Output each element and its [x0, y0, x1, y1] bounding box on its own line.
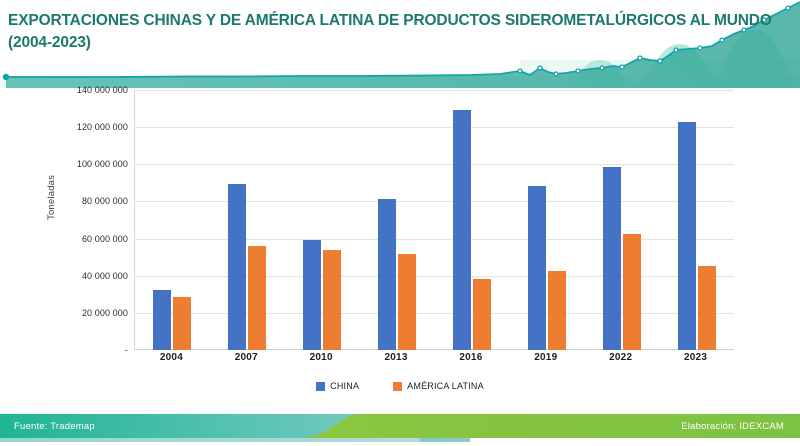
footer-author: Elaboración: IDEXCAM — [681, 406, 784, 446]
bar-america-latina[interactable] — [623, 234, 641, 350]
bar-america-latina[interactable] — [698, 266, 716, 351]
footer-shape-decoration — [0, 406, 800, 446]
bar-america-latina[interactable] — [473, 279, 491, 351]
y-tick-label: - — [125, 345, 128, 355]
header-banner: EXPORTACIONES CHINAS Y DE AMÉRICA LATINA… — [0, 0, 800, 90]
x-tick-label: 2013 — [359, 352, 434, 372]
y-tick-label: 20 000 000 — [82, 308, 128, 318]
y-tick-label: 120 000 000 — [77, 122, 128, 132]
bar-group — [584, 90, 659, 350]
bar-china[interactable] — [678, 122, 696, 350]
title-line-2: (2004-2023) — [8, 32, 698, 54]
y-axis-title: Toneladas — [46, 175, 57, 220]
bar-america-latina[interactable] — [548, 271, 566, 350]
bar-china[interactable] — [378, 199, 396, 350]
bar-group — [360, 90, 435, 350]
bar-america-latina[interactable] — [248, 246, 266, 350]
y-tick-label: 80 000 000 — [82, 196, 128, 206]
bar-china[interactable] — [453, 110, 471, 350]
legend-label: CHINA — [330, 381, 359, 391]
x-tick-label: 2004 — [134, 352, 209, 372]
x-tick-label: 2019 — [508, 352, 583, 372]
bar-america-latina[interactable] — [323, 250, 341, 350]
x-tick-label: 2022 — [583, 352, 658, 372]
footer-bar: Fuente: Trademap Elaboración: IDEXCAM — [0, 406, 800, 446]
footer-source: Fuente: Trademap — [14, 406, 95, 446]
y-tick-label: 60 000 000 — [82, 234, 128, 244]
bar-groups — [135, 90, 734, 350]
legend-swatch-icon — [316, 382, 325, 391]
bar-america-latina[interactable] — [173, 297, 191, 350]
y-tick-label: 140 000 000 — [77, 85, 128, 95]
chart-legend: CHINAAMÉRICA LATINA — [0, 376, 800, 396]
plot-area — [134, 90, 734, 350]
y-tick-label: 100 000 000 — [77, 159, 128, 169]
y-axis-tick-labels: 140 000 000120 000 000100 000 00080 000 … — [60, 90, 134, 352]
x-tick-label: 2007 — [209, 352, 284, 372]
x-axis-tick-labels: 20042007201020132016201920222023 — [134, 352, 733, 372]
bar-china[interactable] — [603, 167, 621, 350]
bar-group — [285, 90, 360, 350]
bar-china[interactable] — [303, 240, 321, 351]
legend-label: AMÉRICA LATINA — [407, 381, 484, 391]
x-tick-label: 2010 — [284, 352, 359, 372]
bar-group — [435, 90, 510, 350]
y-tick-label: 40 000 000 — [82, 271, 128, 281]
plot-wrapper: Toneladas 140 000 000120 000 000100 000 … — [0, 90, 800, 372]
bar-group — [509, 90, 584, 350]
bar-china[interactable] — [153, 290, 171, 350]
bar-group — [135, 90, 210, 350]
legend-item[interactable]: AMÉRICA LATINA — [393, 381, 484, 391]
chart-panel: Toneladas 140 000 000120 000 000100 000 … — [0, 90, 800, 406]
bar-china[interactable] — [228, 184, 246, 350]
x-tick-label: 2023 — [658, 352, 733, 372]
x-tick-label: 2016 — [434, 352, 509, 372]
page-title: EXPORTACIONES CHINAS Y DE AMÉRICA LATINA… — [8, 10, 698, 54]
legend-item[interactable]: CHINA — [316, 381, 359, 391]
bar-group — [210, 90, 285, 350]
legend-swatch-icon — [393, 382, 402, 391]
bar-china[interactable] — [528, 186, 546, 350]
title-line-1: EXPORTACIONES CHINAS Y DE AMÉRICA LATINA… — [8, 10, 698, 32]
bar-america-latina[interactable] — [398, 254, 416, 350]
bar-group — [659, 90, 734, 350]
